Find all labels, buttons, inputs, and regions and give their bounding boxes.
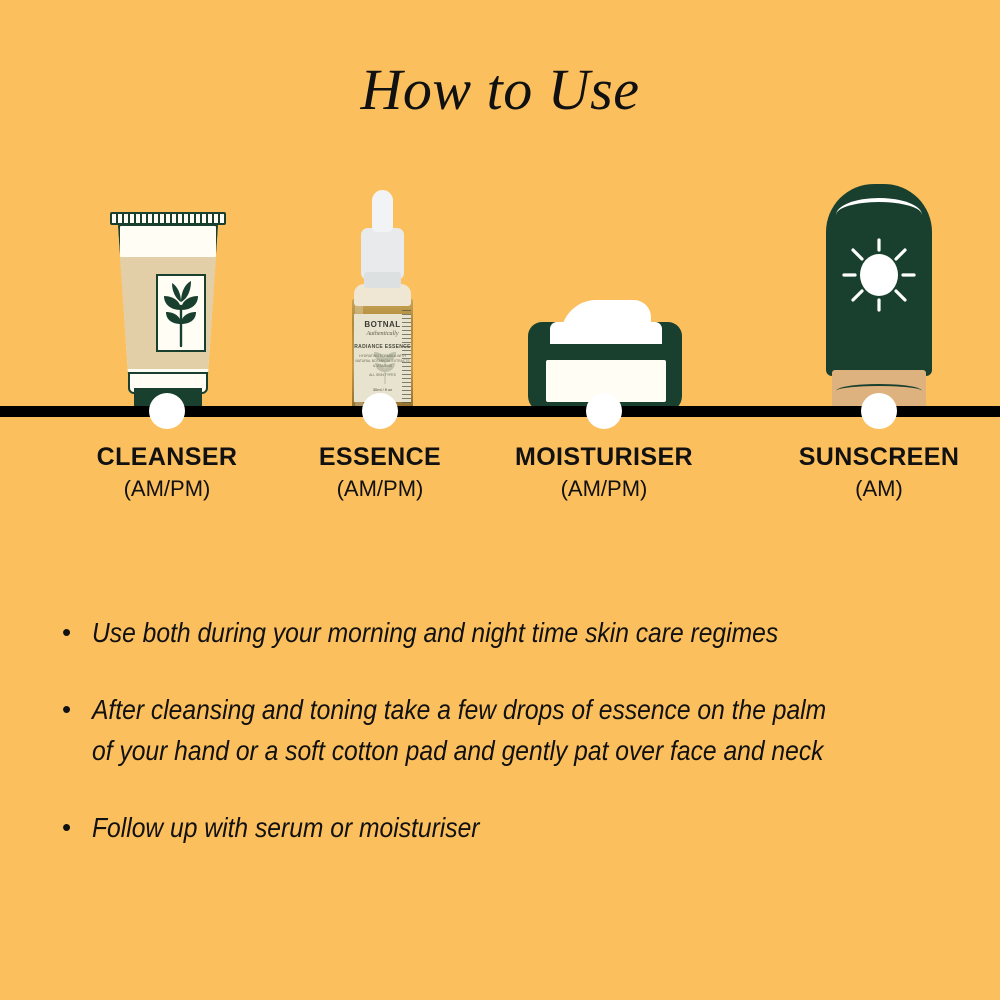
step-sunscreen: SUNSCREEN (AM) — [779, 443, 979, 502]
step-cleanser: CLEANSER (AM/PM) — [67, 443, 267, 502]
step-essence: ESSENCE (AM/PM) — [280, 443, 480, 502]
cleanser-tube-crimp — [110, 212, 226, 225]
sun-icon — [842, 236, 916, 314]
step-moisturiser-name: MOISTURISER — [504, 443, 704, 472]
page-title: How to Use — [0, 56, 1000, 123]
step-moisturiser-time: (AM/PM) — [504, 476, 704, 502]
step-essence-name: ESSENCE — [280, 443, 480, 472]
essence-dropper-collar-lower — [364, 272, 401, 288]
product-illustrations: BOTNAL Authentically RADIANCE ESSENCE HY… — [0, 150, 1000, 412]
infographic-page: How to Use — [0, 0, 1000, 1000]
timeline-dot-essence[interactable] — [362, 393, 398, 429]
timeline-step-labels: CLEANSER (AM/PM) ESSENCE (AM/PM) MOISTUR… — [0, 443, 1000, 513]
essence-side-text — [402, 310, 411, 406]
essence-brand-name: BOTNAL — [364, 320, 400, 329]
timeline-dot-cleanser[interactable] — [149, 393, 185, 429]
essence-dropper-bottle-icon: BOTNAL Authentically RADIANCE ESSENCE HY… — [330, 190, 434, 412]
bullet-marker: • — [62, 612, 92, 652]
leaf-icon — [158, 276, 204, 350]
bullet-marker: • — [62, 689, 92, 729]
step-cleanser-time: (AM/PM) — [67, 476, 267, 502]
instruction-text-2: After cleansing and toning take a few dr… — [92, 689, 849, 771]
step-sunscreen-name: SUNSCREEN — [779, 443, 979, 472]
botanical-watermark-icon — [370, 340, 400, 386]
list-item: • After cleansing and toning take a few … — [62, 689, 962, 771]
timeline-dot-sunscreen[interactable] — [861, 393, 897, 429]
step-cleanser-name: CLEANSER — [67, 443, 267, 472]
sunscreen-tube-arc — [836, 198, 922, 232]
essence-brand-tagline: Authentically — [367, 331, 399, 337]
essence-dropper-bulb — [372, 190, 393, 232]
instruction-text-1: Use both during your morning and night t… — [92, 612, 778, 653]
instructions-list: • Use both during your morning and night… — [62, 612, 962, 884]
sunscreen-tube-icon — [818, 184, 940, 412]
instruction-text-3: Follow up with serum or moisturiser — [92, 807, 480, 848]
cleanser-tube-icon — [104, 212, 232, 412]
list-item: • Use both during your morning and night… — [62, 612, 962, 653]
list-item: • Follow up with serum or moisturiser — [62, 807, 962, 848]
step-sunscreen-time: (AM) — [779, 476, 979, 502]
bullet-marker: • — [62, 807, 92, 847]
essence-volume: 30ml / fl oz — [373, 387, 392, 392]
timeline-dot-moisturiser[interactable] — [586, 393, 622, 429]
step-moisturiser: MOISTURISER (AM/PM) — [504, 443, 704, 502]
step-essence-time: (AM/PM) — [280, 476, 480, 502]
